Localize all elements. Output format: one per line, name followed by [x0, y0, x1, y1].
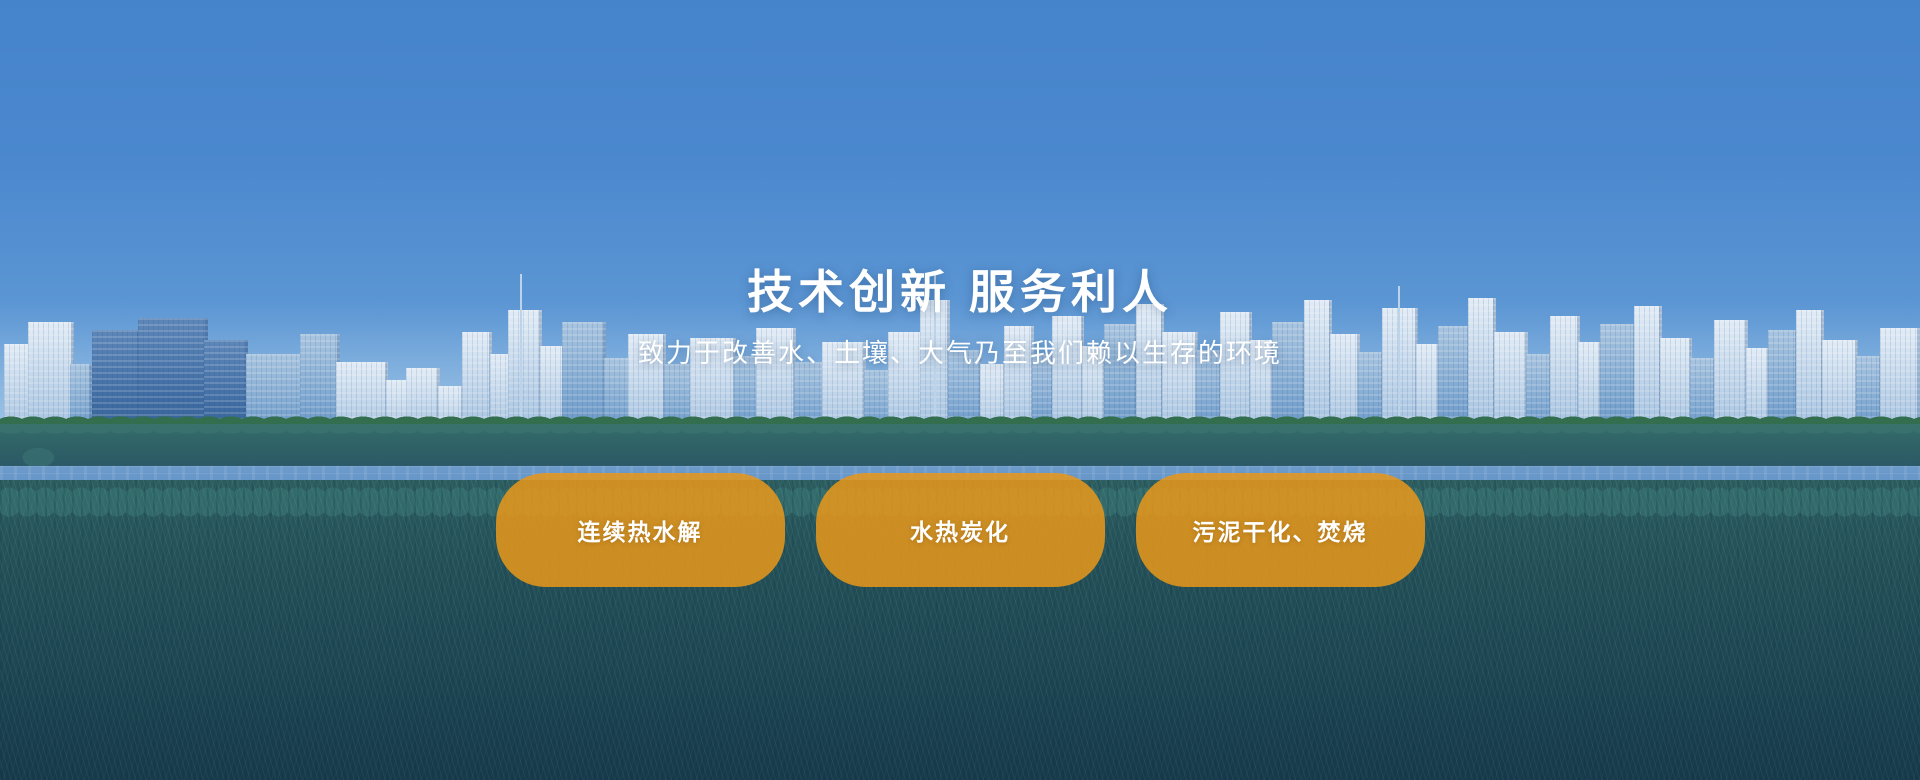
- service-button-hydrothermal-carbonization[interactable]: 水热炭化: [816, 473, 1105, 587]
- page-subtitle: 致力于改善水、土壤、大气乃至我们赖以生存的环境: [0, 333, 1920, 370]
- hero-copy: 技术创新 服务利人 致力于改善水、土壤、大气乃至我们赖以生存的环境: [0, 0, 1920, 370]
- hero-banner: 技术创新 服务利人 致力于改善水、土壤、大气乃至我们赖以生存的环境 连续热水解 …: [0, 0, 1920, 780]
- mid-treeline: [0, 424, 1920, 472]
- service-button-continuous-thermal-hydrolysis[interactable]: 连续热水解: [496, 473, 785, 587]
- service-button-sludge-drying-incineration[interactable]: 污泥干化、焚烧: [1136, 473, 1425, 587]
- service-button-row: 连续热水解 水热炭化 污泥干化、焚烧: [0, 473, 1920, 587]
- page-title: 技术创新 服务利人: [0, 0, 1920, 319]
